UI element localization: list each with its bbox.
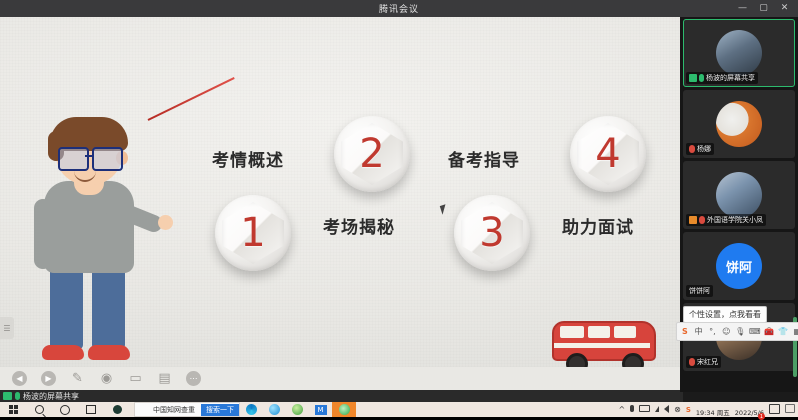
battery-icon[interactable]	[639, 405, 650, 414]
participant-tile-2[interactable]: 外国语学院关小凤	[683, 161, 795, 229]
pen-icon[interactable]: ✎	[70, 371, 85, 386]
participant-name: 杨娜	[697, 144, 711, 154]
no-entry-icon[interactable]: ⊗	[674, 405, 681, 414]
laser-pointer-icon[interactable]: ◉	[99, 371, 114, 386]
microphone-icon	[699, 74, 704, 82]
participant-name: 外国语学院关小凤	[707, 215, 763, 225]
keyboard-icon[interactable]: ⌨	[749, 326, 760, 337]
annotation-icon[interactable]: ▤	[157, 371, 172, 386]
window-title: 腾讯会议	[379, 2, 419, 15]
qq-browser-icon[interactable]	[104, 402, 130, 417]
participant-name-row: 杨波的屏幕共享	[686, 72, 758, 84]
hand-raise-icon	[689, 216, 697, 224]
taskbar-app-edge[interactable]	[240, 402, 263, 417]
participant-tile-3[interactable]: 饼阿 饼饼阿	[683, 232, 795, 300]
slide-disc-2: 2	[334, 116, 410, 192]
microphone-muted-icon	[689, 145, 695, 153]
participant-tile-1[interactable]: 杨娜	[683, 90, 795, 158]
microphone-muted-icon	[689, 358, 695, 366]
ime-tooltip: 个性设置，点我看看	[683, 306, 767, 323]
taskbar-app-tencent-meeting[interactable]	[332, 402, 356, 417]
search-button[interactable]: 搜索一下	[201, 404, 239, 416]
next-slide-icon[interactable]: ▶	[41, 371, 56, 386]
presenter-illustration	[18, 117, 168, 367]
slide-disc-4: 4	[570, 116, 646, 192]
screen-share-bar: 杨波的屏幕共享	[0, 390, 683, 402]
sogou-tray-icon[interactable]: S	[686, 406, 691, 414]
cortana-icon[interactable]	[52, 402, 78, 417]
participant-name-row: 宋红兄	[686, 356, 721, 368]
slide-label-2: 考场揭秘	[323, 213, 395, 238]
bus-illustration	[552, 317, 656, 369]
taskbar-app-onedrive[interactable]	[263, 402, 286, 417]
toolbox-icon[interactable]: 🧰	[764, 326, 774, 337]
presentation-toolbar: ◀ ▶ ✎ ◉ ▭ ▤ ⋯	[0, 367, 680, 390]
participant-name: 杨波的屏幕共享	[706, 73, 755, 83]
participant-name-row: 饼饼阿	[686, 285, 713, 297]
skin-icon[interactable]: 👕	[778, 326, 788, 337]
participant-name: 饼饼阿	[689, 286, 710, 296]
video-icon[interactable]: ▭	[128, 371, 143, 386]
menu-icon[interactable]: ▦	[792, 326, 798, 337]
action-center-icon[interactable]	[769, 404, 780, 416]
participant-name-row: 外国语学院关小凤	[686, 214, 766, 226]
slide-side-tab[interactable]: ☰	[0, 317, 14, 339]
taskbar-search-box[interactable]: edge-icon 中国知网查重 搜索一下	[134, 402, 240, 417]
tencent-meeting-window: 腾讯会议 — ▢ ✕	[0, 0, 798, 417]
avatar-initials: 饼阿	[716, 243, 762, 289]
search-icon[interactable]	[26, 402, 52, 417]
windows-taskbar: edge-icon 中国知网查重 搜索一下 M ^	[0, 402, 798, 417]
taskbar-app-ie[interactable]	[286, 402, 309, 417]
window-controls: — ▢ ✕	[737, 0, 796, 17]
shared-screen-stage[interactable]: 1 考情概述 2 考场揭秘 3 备考指导 4 助力面试	[0, 17, 680, 390]
microphone-muted-icon	[699, 216, 705, 224]
system-tray: ^ ⊗ S 19:34 周五 2022/5/6 1	[618, 400, 798, 419]
microphone-icon	[15, 392, 20, 400]
participant-tile-0[interactable]: 杨波的屏幕共享	[683, 19, 795, 87]
slide-disc-1: 1	[215, 195, 291, 271]
sogou-logo-icon[interactable]: S	[680, 326, 690, 337]
slide-disc-3: 3	[454, 195, 530, 271]
screen-share-icon	[3, 392, 12, 400]
minimize-button[interactable]: —	[737, 4, 748, 13]
slide-label-3: 备考指导	[448, 146, 520, 171]
avatar	[716, 30, 762, 76]
microphone-icon[interactable]	[630, 405, 634, 414]
clock-time: 19:34 周五	[696, 409, 730, 417]
slide-label-1: 考情概述	[212, 146, 284, 171]
avatar: 饼阿	[716, 243, 762, 289]
show-desktop-icon[interactable]	[785, 404, 795, 415]
windows-start-icon[interactable]	[0, 402, 26, 417]
search-query[interactable]: 中国知网查重	[149, 405, 199, 415]
more-options-icon[interactable]: ⋯	[186, 371, 201, 386]
chinese-mode-icon[interactable]: 中	[694, 326, 704, 337]
maximize-button[interactable]: ▢	[758, 4, 769, 13]
slide-label-4: 助力面试	[562, 213, 634, 238]
prev-slide-icon[interactable]: ◀	[12, 371, 27, 386]
slide-number-1: 1	[240, 213, 265, 253]
participant-name: 宋红兄	[697, 357, 718, 367]
sogou-ime-toolbar[interactable]: S 中 °, ☺ 🎙 ⌨ 🧰 👕 ▦	[676, 322, 798, 341]
avatar	[716, 172, 762, 218]
show-hidden-icons[interactable]: ^	[618, 405, 625, 414]
pointer-stick	[148, 77, 235, 121]
screen-share-icon	[689, 74, 697, 82]
share-bar-label: 杨波的屏幕共享	[23, 391, 79, 402]
slide-number-2: 2	[359, 134, 384, 174]
wifi-icon[interactable]	[655, 405, 659, 414]
avatar	[716, 101, 762, 147]
voice-input-icon[interactable]: 🎙	[735, 326, 745, 337]
close-button[interactable]: ✕	[779, 4, 790, 13]
participant-name-row: 杨娜	[686, 143, 714, 155]
punctuation-icon[interactable]: °,	[708, 326, 718, 337]
taskbar-clock[interactable]: 19:34 周五 2022/5/6 1	[696, 400, 764, 419]
slide-number-4: 4	[595, 134, 620, 174]
emoji-icon[interactable]: ☺	[721, 326, 731, 337]
volume-icon[interactable]	[664, 405, 669, 415]
slide-number-3: 3	[479, 213, 504, 253]
task-view-icon[interactable]	[78, 402, 104, 417]
taskbar-app-wps[interactable]: M	[309, 402, 332, 417]
presentation-slide: 1 考情概述 2 考场揭秘 3 备考指导 4 助力面试	[0, 17, 680, 367]
title-bar: 腾讯会议 — ▢ ✕	[0, 0, 798, 17]
